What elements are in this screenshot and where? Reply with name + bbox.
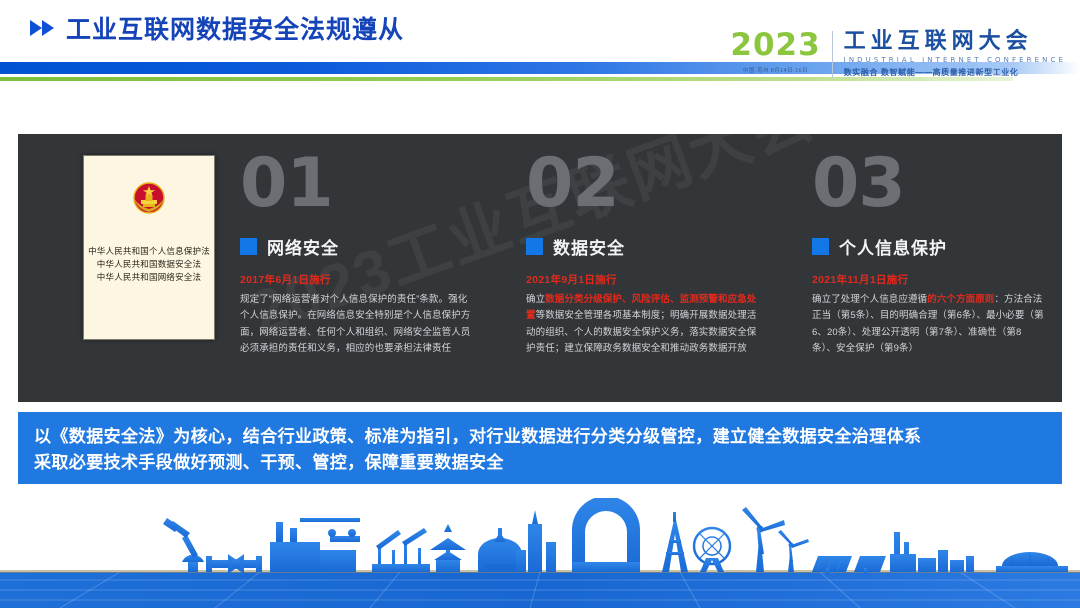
column-number: 03 [812,150,1062,218]
summary-banner: 以《数据安全法》为核心，结合行业政策、标准为指引，对行业数据进行分类分级管控，建… [18,412,1062,484]
logo-name-en: INDUSTRIAL INTERNET CONFERENCE [844,56,1066,64]
logo-name-block: 工业互联网大会 INDUSTRIAL INTERNET CONFERENCE 数… [844,28,1066,78]
column-effective-date: 2017年6月1日施行 [240,272,530,287]
column-effective-date: 2021年9月1日施行 [526,272,816,287]
column-body-pre: 规定了“网络运营者对个人信息保护的责任”条款。强化个人信息保护。在网络信息安全特… [240,294,470,354]
column-heading: 网络安全 [240,234,530,259]
blue-square-bullet-icon [812,238,829,255]
column-number: 01 [240,150,530,218]
logo-divider [832,31,833,78]
law-title: 中华人民共和国数据安全法 [84,258,214,271]
column-personal-info-protection: 03 个人信息保护 2021年11月1日施行 确立了处理个人信息应遵循的六个方面… [812,134,1062,357]
double-triangle-play-icon [30,19,56,42]
column-network-security: 01 网络安全 2017年6月1日施行 规定了“网络运营者对个人信息保护的责任”… [240,134,530,357]
column-body-post: 等数据安全管理各项基本制度；明确开展数据处理活动的组织、个人的数据安全保护义务，… [526,310,756,354]
column-number: 02 [526,150,816,218]
content-panel: 2023工业互联网大会 中华人民共和国个人信息保护法 中华人民共和国数据安全法 … [18,134,1062,402]
logo-name-cn: 工业互联网大会 [844,30,1066,52]
law-title: 中华人民共和国网络安全法 [84,271,214,284]
china-national-emblem-icon [128,178,170,225]
blue-square-bullet-icon [526,238,543,255]
law-titles: 中华人民共和国个人信息保护法 中华人民共和国数据安全法 中华人民共和国网络安全法 [84,245,214,285]
page-title: 工业互联网数据安全法规遵从 [66,18,404,43]
column-body-pre: 确立了处理个人信息应遵循 [812,294,927,305]
column-title: 数据安全 [553,234,625,259]
column-title: 网络安全 [267,234,339,259]
column-body: 确立了处理个人信息应遵循的六个方面原则：方法合法正当（第5条）、目的明确合理（第… [812,292,1044,357]
header: 工业互联网数据安全法规遵从 [30,18,404,43]
summary-line-2: 采取必要技术手段做好预测、干预、管控，保障重要数据安全 [34,450,1046,476]
column-body-highlight: 的六个方面原则 [927,294,994,305]
column-body: 确立数据分类分级保护、风险评估、监测预警和应急处置等数据安全管理各项基本制度；明… [526,292,758,357]
column-title: 个人信息保护 [839,234,947,259]
conference-logo: 2023 中国·苏州 8月14日-16日 工业互联网大会 INDUSTRIAL … [730,28,1066,78]
summary-line-1: 以《数据安全法》为核心，结合行业政策、标准为指引，对行业数据进行分类分级管控，建… [34,424,1046,450]
logo-year-subtitle: 中国·苏州 8月14日-16日 [730,66,820,74]
column-effective-date: 2021年11月1日施行 [812,272,1062,287]
column-heading: 数据安全 [526,234,816,259]
column-body: 规定了“网络运营者对个人信息保护的责任”条款。强化个人信息保护。在网络信息安全特… [240,292,472,357]
column-heading: 个人信息保护 [812,234,1062,259]
column-data-security: 02 数据安全 2021年9月1日施行 确立数据分类分级保护、风险评估、监测预警… [526,134,816,357]
industrial-city-skyline-silhouette [0,498,1080,608]
slide: 工业互联网数据安全法规遵从 2023 中国·苏州 8月14日-16日 工业互联网… [0,0,1080,608]
logo-year-block: 2023 中国·苏州 8月14日-16日 [730,28,820,74]
logo-year: 2023 [730,30,820,61]
blue-square-bullet-icon [240,238,257,255]
column-body-pre: 确立 [526,294,545,305]
law-document-thumbnail: 中华人民共和国个人信息保护法 中华人民共和国数据安全法 中华人民共和国网络安全法 [83,155,215,340]
logo-tagline: 数实融合 数智赋能——高质量推进新型工业化 [844,67,1066,78]
law-title: 中华人民共和国个人信息保护法 [84,245,214,258]
